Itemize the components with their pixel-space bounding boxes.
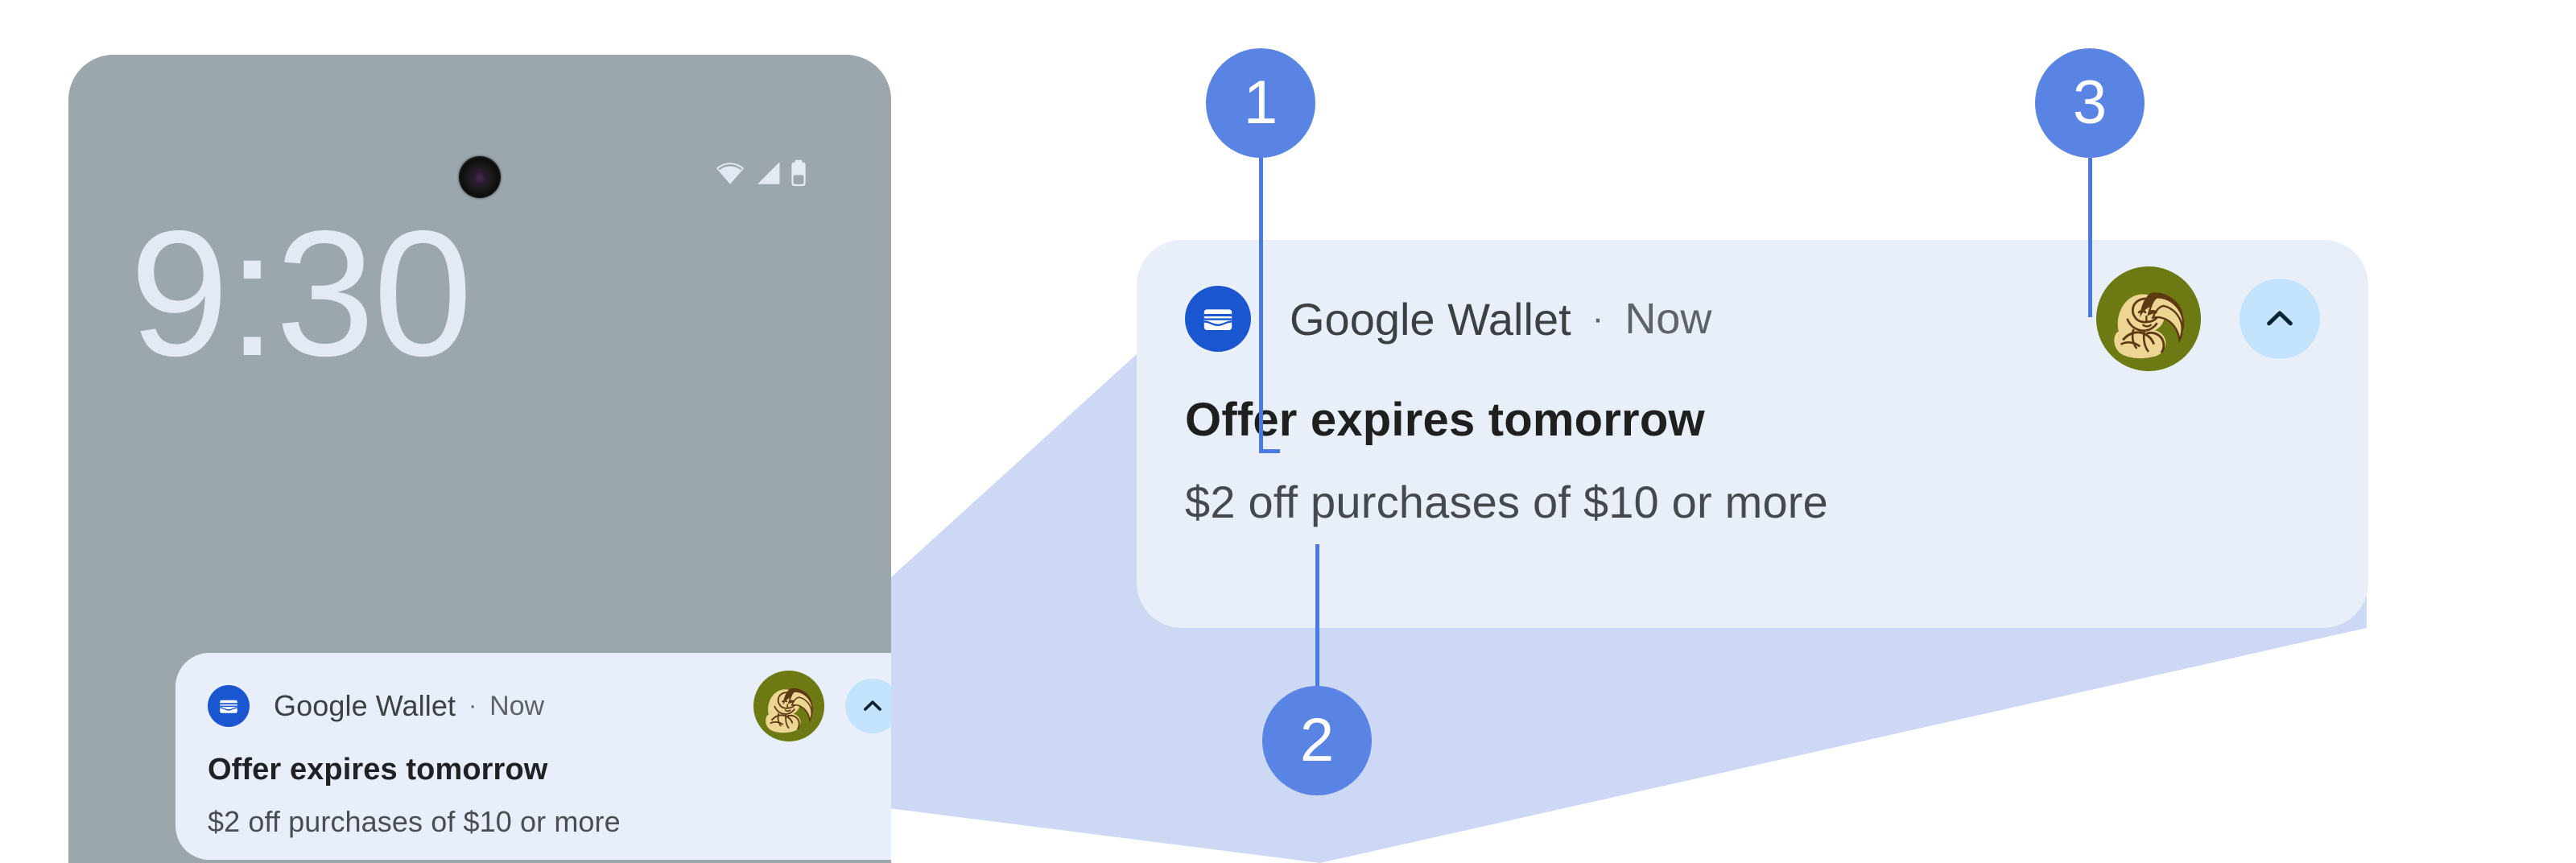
- notification-timestamp: Now: [489, 691, 544, 722]
- callout-badge-3: 3: [2035, 48, 2145, 158]
- phone-status-bar: [68, 55, 891, 192]
- notification-body: $2 off purchases of $10 or more: [1185, 476, 2320, 528]
- notification-header-small: Google Wallet · Now: [208, 680, 891, 732]
- cellular-signal-icon: [753, 160, 782, 186]
- callout-leader-elbow-1: [1259, 449, 1280, 453]
- merchant-avatar-siren-icon: [753, 671, 824, 741]
- google-wallet-icon: [208, 685, 250, 727]
- google-wallet-icon: [1185, 286, 1251, 352]
- notification-title: Offer expires tomorrow: [1185, 393, 2320, 447]
- screenshot-stage: 9:30 Google Wallet · Now: [0, 0, 2576, 863]
- callout-badge-2: 2: [1262, 686, 1372, 795]
- chevron-up-icon[interactable]: [2240, 279, 2320, 359]
- notification-card-large[interactable]: Google Wallet · Now: [1137, 240, 2368, 628]
- callout-leader-line-1: [1259, 158, 1263, 452]
- wifi-icon: [714, 160, 746, 186]
- notification-card-small[interactable]: Google Wallet · Now: [175, 653, 891, 860]
- callout-badge-1: 1: [1206, 48, 1315, 158]
- notification-app-name: Google Wallet: [274, 689, 456, 723]
- notification-separator: ·: [1592, 301, 1604, 337]
- chevron-up-icon[interactable]: [845, 679, 891, 733]
- phone-mockup: 9:30 Google Wallet · Now: [68, 55, 891, 863]
- callout-leader-line-3: [2088, 158, 2092, 317]
- battery-icon: [790, 159, 807, 187]
- notification-title: Offer expires tomorrow: [208, 753, 891, 787]
- front-camera-punch-hole-icon: [459, 156, 501, 198]
- notification-timestamp: Now: [1624, 294, 1711, 344]
- notification-app-name: Google Wallet: [1290, 293, 1571, 345]
- merchant-avatar-siren-icon: [2096, 266, 2201, 371]
- callout-leader-line-2: [1315, 544, 1319, 689]
- notification-header-large: Google Wallet · Now: [1185, 277, 2320, 361]
- status-icon-group: [714, 159, 807, 187]
- notification-separator: ·: [469, 694, 477, 718]
- notification-body: $2 off purchases of $10 or more: [208, 805, 891, 839]
- lockscreen-clock: 9:30: [130, 204, 471, 383]
